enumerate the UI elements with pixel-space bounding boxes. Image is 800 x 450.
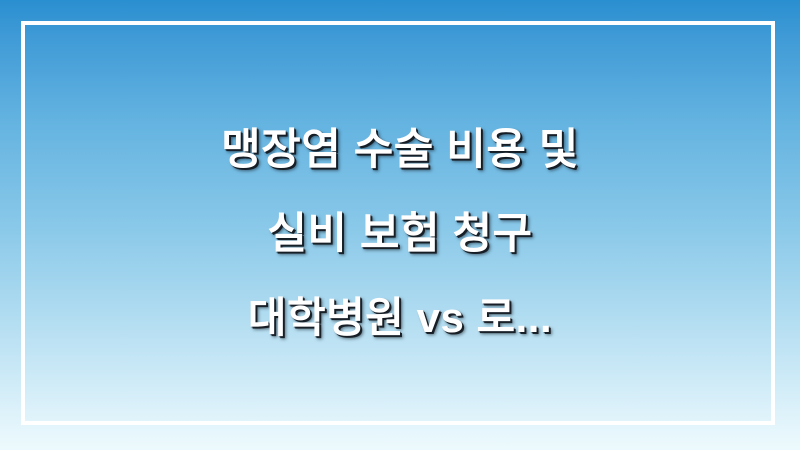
title-block: 맹장염 수술 비용 및 실비 보험 청구 대학병원 vs 로... (0, 108, 800, 360)
thumbnail-card: 맹장염 수술 비용 및 실비 보험 청구 대학병원 vs 로... (0, 0, 800, 450)
title-line-2: 실비 보험 청구 (0, 192, 800, 276)
title-line-3: 대학병원 vs 로... (0, 276, 800, 360)
title-line-1: 맹장염 수술 비용 및 (0, 108, 800, 192)
